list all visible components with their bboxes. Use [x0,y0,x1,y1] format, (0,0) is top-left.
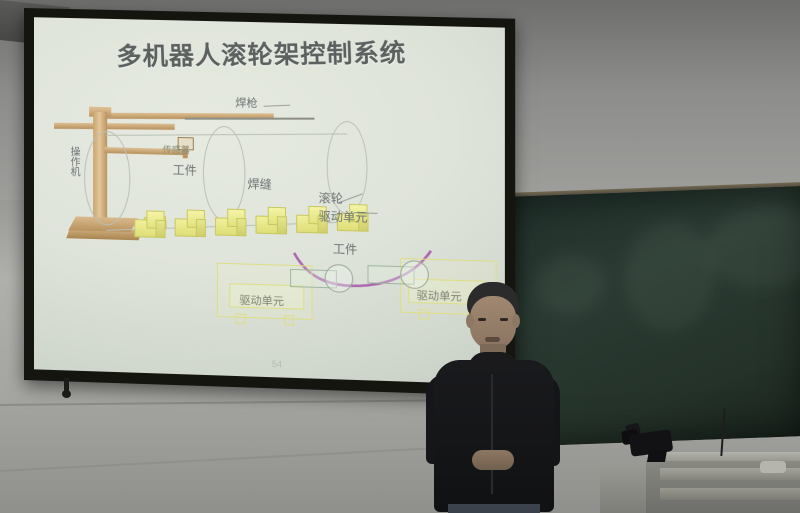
slide-page-number: 54 [272,359,282,369]
presenter-jacket-zipper [491,374,493,494]
lecture-room-photo: 多机器人滚轮架控制系统 [0,0,800,513]
presenter-eye-right [500,318,508,321]
label-workpiece-lower: 工件 [333,240,357,258]
roller-wheel-left [325,264,354,293]
screen-pull-handle[interactable] [64,378,69,396]
presenter-collar [468,352,518,372]
presenter-ear-left [466,314,474,328]
chalk-smudge [705,205,800,289]
presenter-eye-left [478,318,486,321]
presenter-mouth [485,337,500,342]
video-camera [622,424,680,460]
chalk-smudge [625,219,715,332]
presenter-ear-right [512,314,520,328]
presenter-hands [472,450,514,470]
presenter-jacket [434,360,554,512]
drive-unit-left [217,255,323,327]
label-drive-unit-left: 驱动单元 [239,292,284,309]
presenter [412,282,572,513]
camera-tripod-mount [647,450,667,462]
presenter-trousers [448,504,540,513]
podium-panel-lower [660,488,800,500]
podium-handle[interactable] [760,461,786,473]
